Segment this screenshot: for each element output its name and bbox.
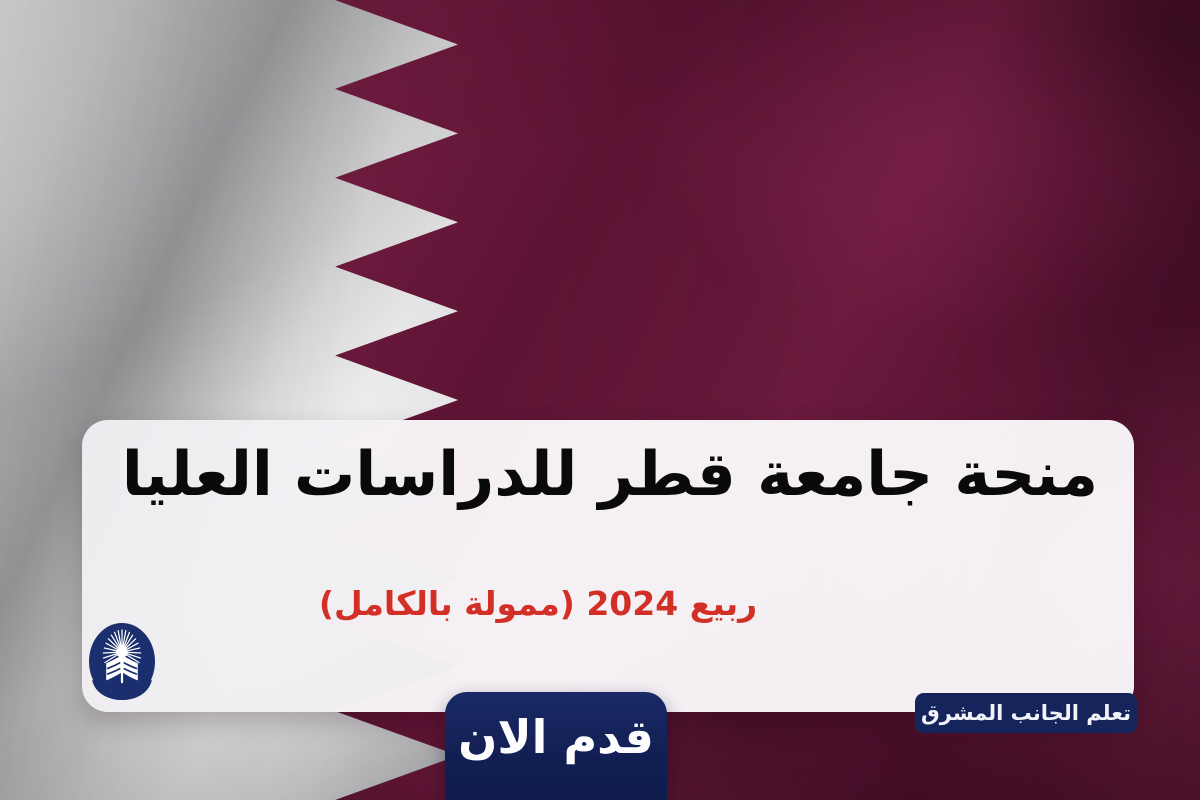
content-card: منحة جامعة قطر للدراسات العليا ربيع 2024… (82, 420, 1134, 712)
apply-now-label: قدم الان (458, 714, 654, 760)
brand-badge[interactable]: تعلم الجانب المشرق (915, 693, 1137, 733)
apply-now-button[interactable]: قدم الان (445, 692, 667, 800)
brand-badge-label: تعلم الجانب المشرق (921, 701, 1131, 725)
open-book-sunburst-logo (88, 622, 156, 701)
page-title: منحة جامعة قطر للدراسات العليا (118, 438, 1098, 512)
scholarship-banner: منحة جامعة قطر للدراسات العليا ربيع 2024… (0, 0, 1200, 800)
subtitle: ربيع 2024 (ممولة بالكامل) (118, 584, 1098, 623)
